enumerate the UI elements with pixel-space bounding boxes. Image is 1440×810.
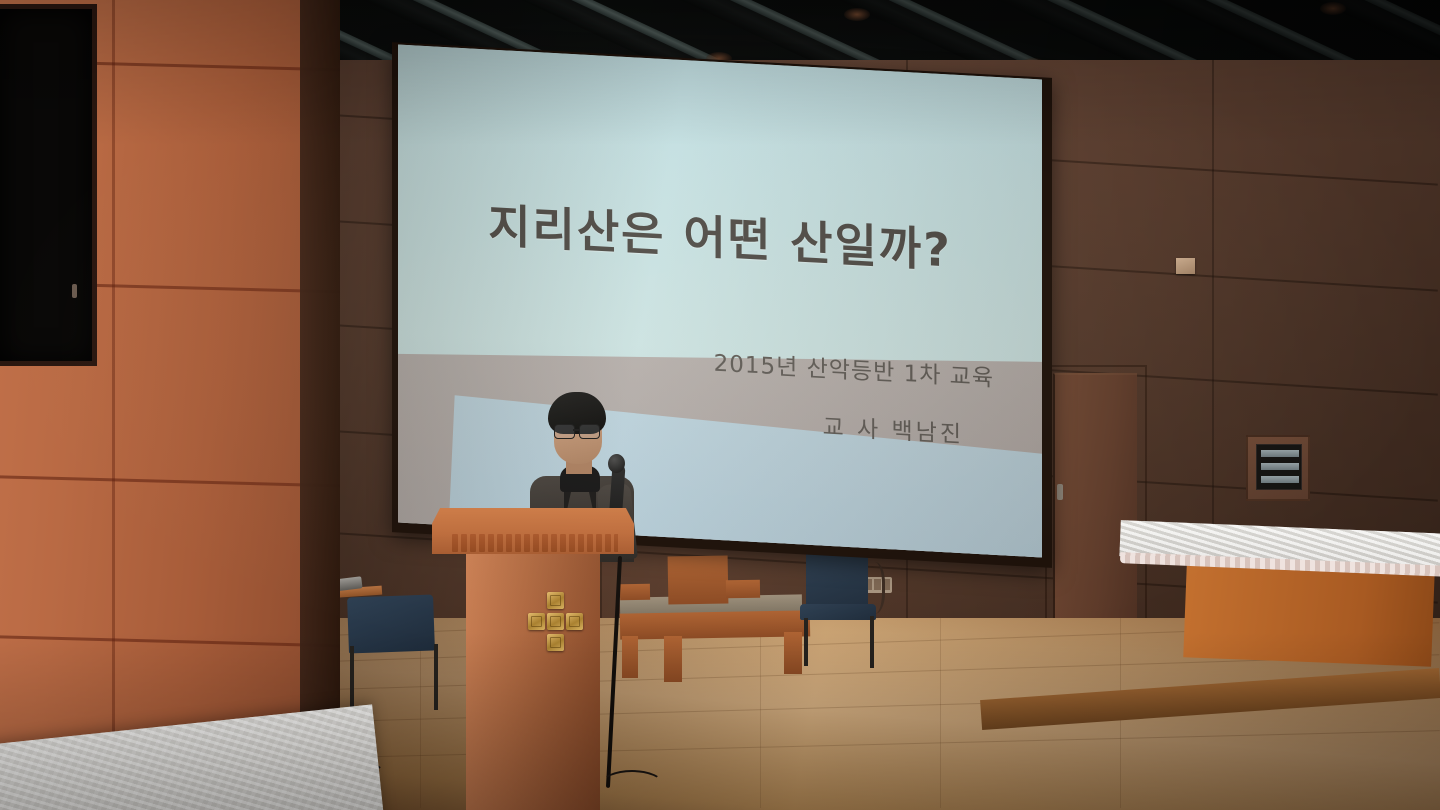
emblem-plate-top — [547, 592, 564, 609]
podium-body — [466, 552, 600, 810]
bench-leg — [784, 632, 802, 674]
window-latch-icon[interactable] — [72, 284, 77, 298]
podium-emblem — [528, 592, 582, 652]
emblem-plate-bottom — [547, 634, 564, 651]
door[interactable] — [1053, 373, 1137, 630]
wall-vent-inner — [1256, 444, 1302, 490]
bench-apron — [620, 610, 810, 639]
wall-plaque — [1176, 258, 1195, 274]
door-handle-icon[interactable] — [1057, 484, 1063, 500]
bench-armrest — [620, 584, 650, 601]
chair-leg — [804, 618, 808, 666]
floor-cable — [600, 770, 664, 800]
wall-corner-shadow — [300, 0, 340, 760]
emblem-plate-center — [547, 613, 564, 630]
blue-chair — [347, 595, 435, 654]
bench-leg — [664, 636, 682, 682]
projection-screen: 지리산은 어떤 산일까? 2015년 산악등반 1차 교육 교 사 백남진 — [398, 45, 1042, 558]
bench-backrest — [668, 555, 729, 604]
chair-leg — [434, 644, 438, 710]
bench-leg — [622, 636, 638, 678]
chair-leg — [870, 616, 874, 668]
ceiling-light-icon — [1320, 2, 1346, 15]
emblem-plate-right — [566, 613, 583, 630]
right-table-base — [1183, 561, 1435, 666]
left-window — [0, 4, 97, 366]
ceiling-light-icon — [844, 8, 870, 21]
left-wood-wall — [0, 0, 340, 810]
glasses-icon — [554, 424, 604, 437]
bench-armrest — [726, 580, 760, 599]
lecture-hall-scene: 지리산은 어떤 산일까? 2015년 산악등반 1차 교육 교 사 백남진 — [0, 0, 1440, 810]
podium-trim — [452, 534, 618, 552]
chair-armrest — [860, 562, 885, 614]
emblem-plate-left — [528, 613, 545, 630]
